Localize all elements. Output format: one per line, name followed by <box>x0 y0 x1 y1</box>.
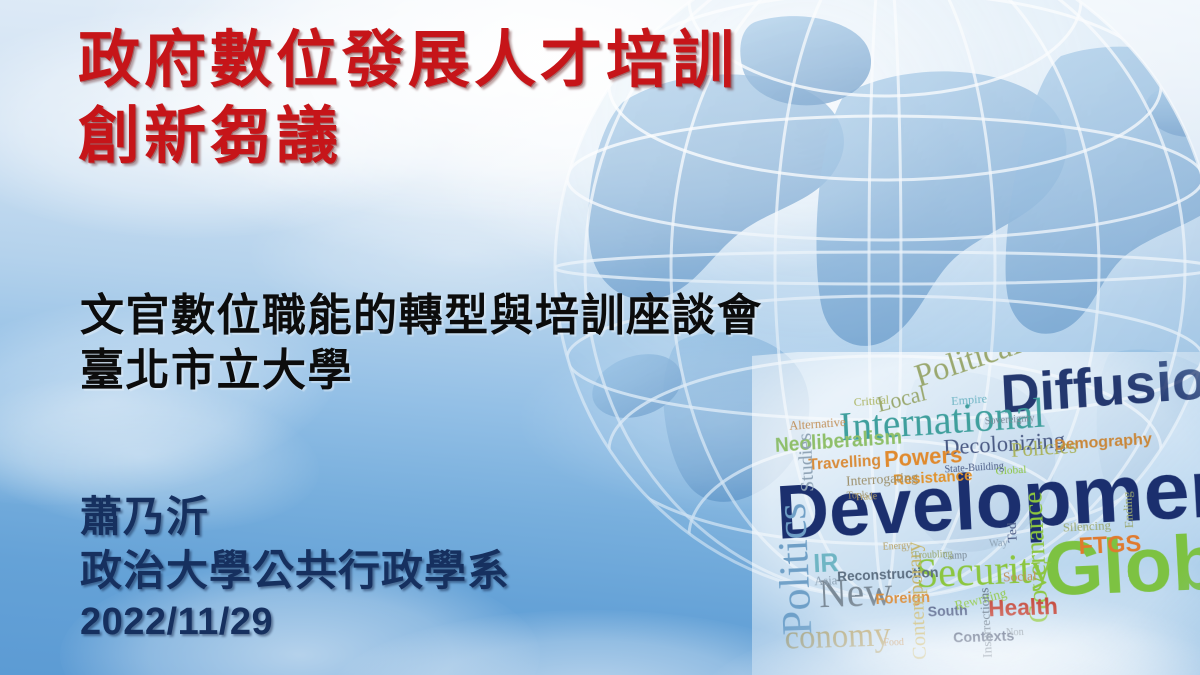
word-cloud-word: Alternative <box>789 415 846 432</box>
word-cloud-word: Troubling <box>913 550 953 562</box>
title-line-2: 創新芻議 <box>78 98 738 174</box>
word-cloud-word: Food <box>883 638 904 649</box>
author-name: 蕭乃沂 <box>80 490 510 544</box>
word-cloud-word: Tools <box>847 490 869 501</box>
word-cloud-word: Social <box>1003 569 1037 584</box>
word-cloud-word: Energy <box>882 541 911 553</box>
title-line-1: 政府數位發展人才培訓 <box>78 22 738 98</box>
presentation-date: 2022/11/29 <box>80 598 510 647</box>
word-cloud-canvas: DevelopmentDiffusionInternationalGlobSec… <box>752 352 1200 675</box>
word-cloud-word: Politics <box>770 502 819 636</box>
word-cloud-word: Ending <box>1121 491 1136 528</box>
word-cloud-image: DevelopmentDiffusionInternationalGlobSec… <box>752 352 1200 675</box>
word-cloud-word: Studies <box>795 432 817 492</box>
author-block: 蕭乃沂 政治大學公共行政學系 2022/11/29 <box>80 490 510 646</box>
word-cloud-word: Empire <box>951 392 987 407</box>
page-title: 政府數位發展人才培訓 創新芻議 <box>78 22 738 173</box>
word-cloud-word: Critical <box>853 393 889 408</box>
presentation-title-slide: DevelopmentDiffusionInternationalGlobSec… <box>0 0 1200 675</box>
subtitle-line-venue: 臺北市立大學 <box>80 343 763 398</box>
subtitle-line-event: 文官數位職能的轉型與培訓座談會 <box>80 288 763 343</box>
word-cloud-word: Asia <box>814 573 838 587</box>
word-cloud-word: conomy <box>784 618 892 656</box>
word-cloud-word: FTGS <box>1078 532 1142 558</box>
author-affiliation: 政治大學公共行政學系 <box>80 544 510 598</box>
word-cloud-word: Silencing <box>1063 519 1112 534</box>
subtitle: 文官數位職能的轉型與培訓座談會 臺北市立大學 <box>80 288 763 399</box>
word-cloud-word: Non <box>1006 628 1024 639</box>
word-cloud-word: Way <box>989 539 1008 550</box>
word-cloud-word: Insurrections <box>977 587 994 658</box>
